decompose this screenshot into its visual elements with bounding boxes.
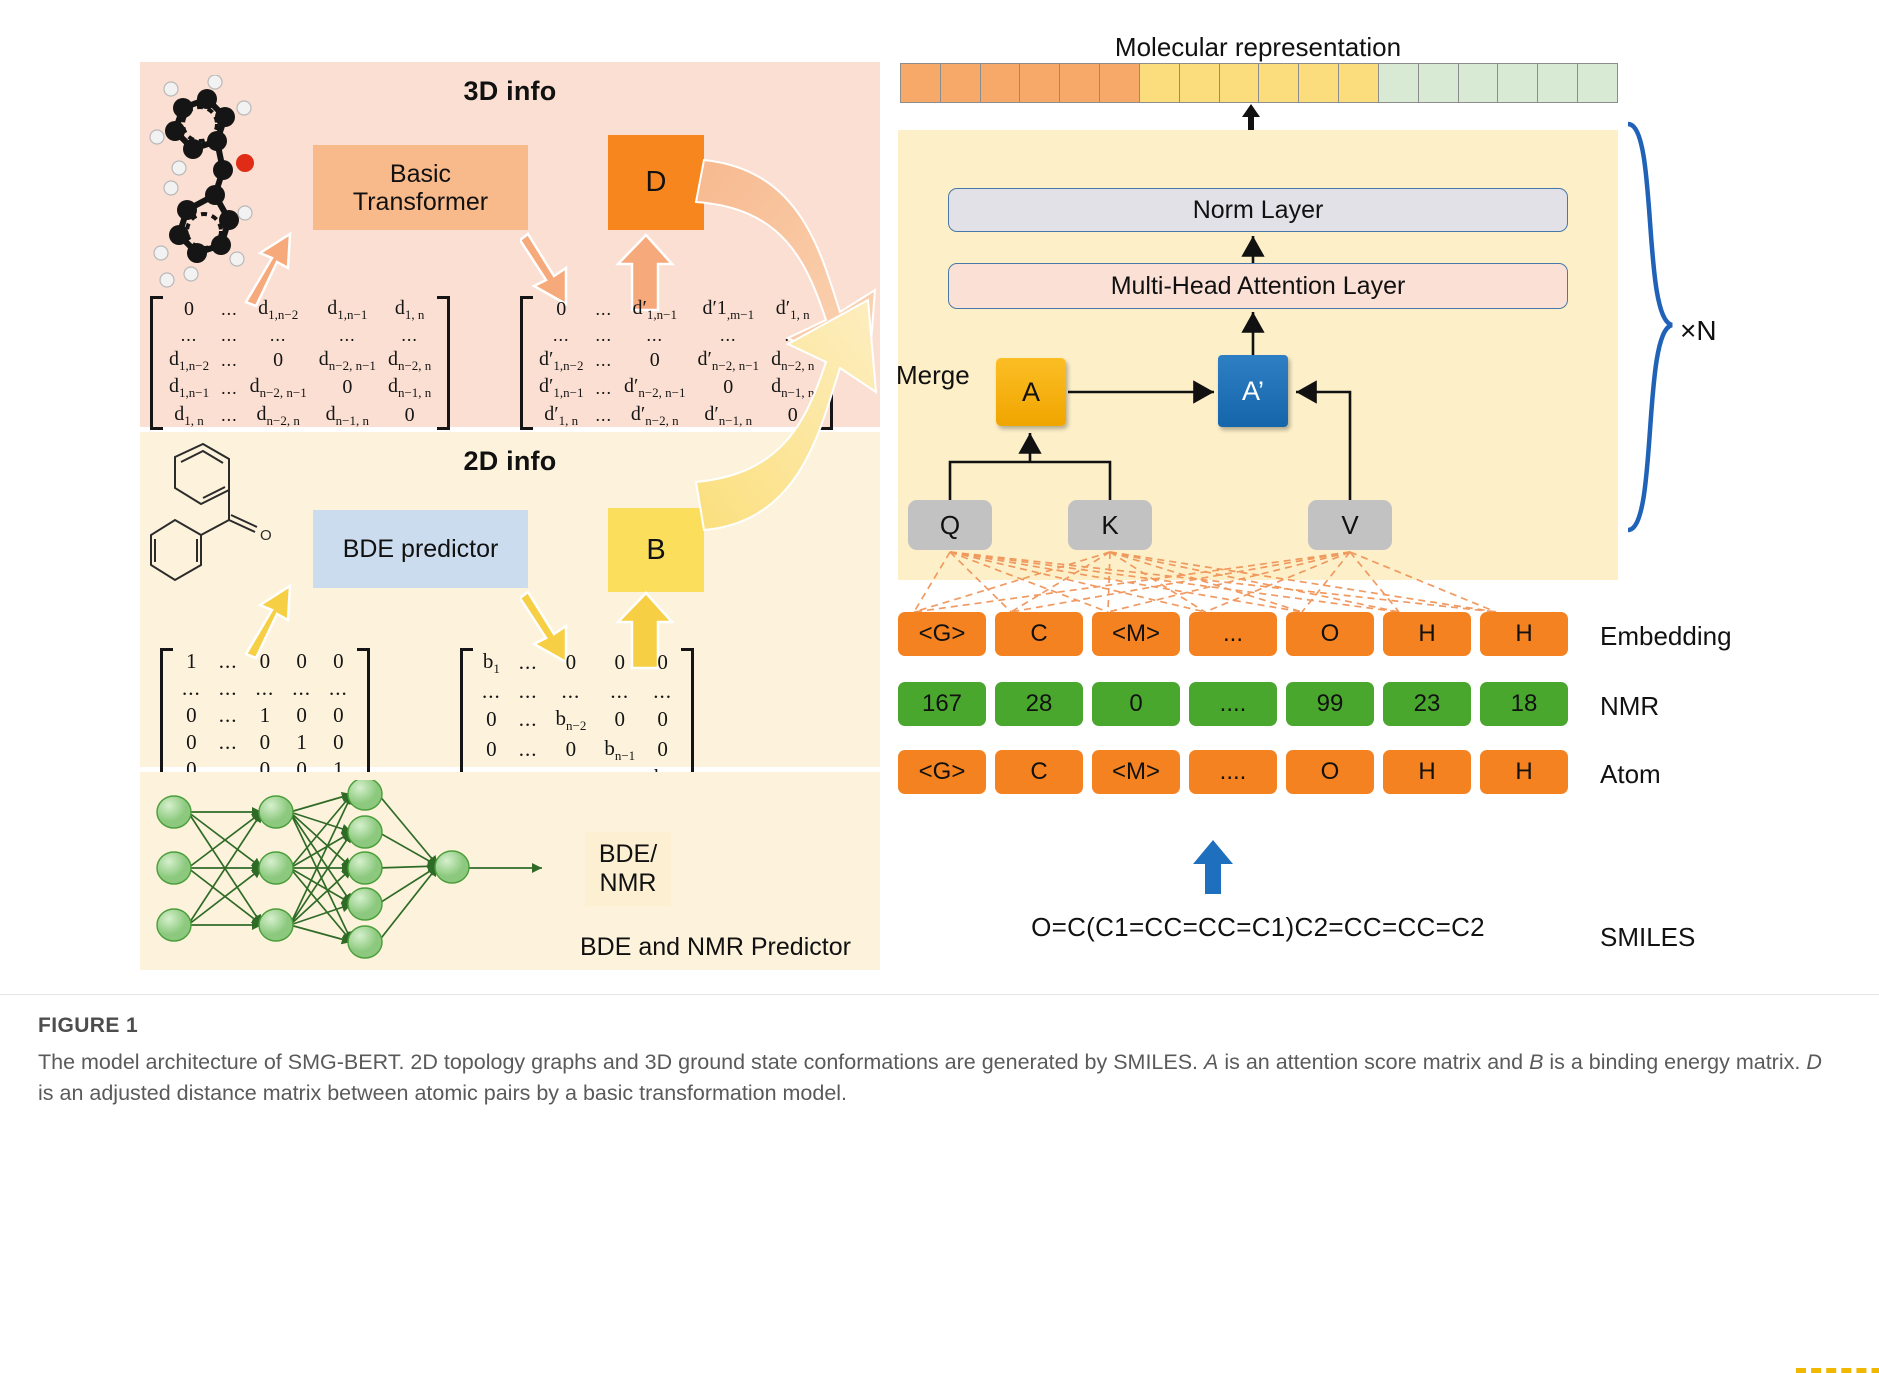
representation-cell-16 [1538, 64, 1578, 102]
representation-cell-6 [1140, 64, 1180, 102]
atom-token-2: <M> [1092, 750, 1180, 794]
svg-text:O: O [260, 527, 272, 544]
basic-transformer-line2: Transformer [353, 188, 488, 216]
bde-nmr-output-box: BDE/ NMR [585, 832, 671, 906]
atom-token-5: H [1383, 750, 1471, 794]
smiles-string: O=C(C1=CC=CC=C1)C2=CC=CC=C2 [898, 912, 1618, 943]
arrow-up-smiles-icon [1190, 838, 1236, 896]
figure-caption-block: FIGURE 1 The model architecture of SMG-B… [38, 1014, 1838, 1108]
yellow-dashed-divider [898, 683, 1618, 689]
representation-cell-17 [1578, 64, 1617, 102]
embedding-token-3: ... [1189, 612, 1277, 656]
value-box-v: V [1308, 500, 1392, 550]
atom-token-6: H [1480, 750, 1568, 794]
atom-token-4: O [1286, 750, 1374, 794]
repeat-n-label: ×N [1680, 315, 1717, 347]
predictor-caption: BDE and NMR Predictor [580, 930, 900, 964]
matrix-d: 0...d1,n−2d1,n−1d1, n ............... d1… [150, 296, 450, 430]
embedding-token-5: H [1383, 612, 1471, 656]
representation-cell-12 [1379, 64, 1419, 102]
representation-cell-8 [1220, 64, 1260, 102]
query-box-q: Q [908, 500, 992, 550]
atom-token-1: C [995, 750, 1083, 794]
representation-cell-13 [1419, 64, 1459, 102]
bde-predictor-box: BDE predictor [313, 510, 528, 588]
caption-seg-4: is an adjusted distance matrix between a… [38, 1081, 847, 1105]
bde-nmr-line1: BDE/ [599, 840, 657, 868]
figure-number: FIGURE 1 [38, 1014, 1838, 1038]
figure-canvas: 3D info [0, 0, 1879, 1000]
matrix-bracket-right [357, 648, 370, 782]
norm-layer-box: Norm Layer [948, 188, 1568, 232]
representation-cell-1 [941, 64, 981, 102]
matrix-bracket-right [437, 296, 450, 430]
matrix-bracket-left [150, 296, 163, 430]
representation-cell-11 [1339, 64, 1379, 102]
representation-cell-3 [1020, 64, 1060, 102]
atom-token-0: <G> [898, 750, 986, 794]
figure-caption-text: The model architecture of SMG-BERT. 2D t… [38, 1047, 1838, 1108]
basic-transformer-box: Basic Transformer [313, 145, 528, 230]
representation-cell-14 [1459, 64, 1499, 102]
caption-var-a: A [1204, 1050, 1218, 1074]
merge-label: Merge [896, 360, 970, 391]
caption-divider-rule [0, 994, 1879, 995]
matrix-d-table: 0...d1,n−2d1,n−1d1, n ............... d1… [163, 296, 437, 430]
embedding-token-4: O [1286, 612, 1374, 656]
molecule-2d-skeletal-icon: O [145, 432, 275, 592]
embedding-token-row: <G>C<M>...OHH [898, 612, 1568, 656]
embedding-token-1: C [995, 612, 1083, 656]
matrix-bracket-left [160, 648, 173, 782]
atom-row-label: Atom [1600, 759, 1661, 790]
bde-nmr-line2: NMR [600, 869, 657, 897]
caption-seg-3: is a binding energy matrix. [1543, 1050, 1806, 1074]
molecular-representation-bar [900, 63, 1618, 103]
embedding-token-0: <G> [898, 612, 986, 656]
attention-score-box-a: A [996, 358, 1066, 426]
embedding-token-6: H [1480, 612, 1568, 656]
representation-cell-9 [1259, 64, 1299, 102]
caption-var-b: B [1529, 1050, 1543, 1074]
key-box-k: K [1068, 500, 1152, 550]
representation-cell-4 [1060, 64, 1100, 102]
representation-cell-5 [1100, 64, 1140, 102]
atom-token-row: <G>C<M>....OHH [898, 750, 1568, 794]
representation-cell-15 [1498, 64, 1538, 102]
caption-var-d: D [1806, 1050, 1822, 1074]
neural-network-diagram [150, 780, 580, 960]
representation-cell-7 [1180, 64, 1220, 102]
representation-cell-2 [981, 64, 1021, 102]
embedding-row-label: Embedding [1600, 621, 1732, 652]
matrix-identity: 1...000 ............... 0...100 0...010 … [160, 648, 370, 782]
attention-score-box-a-prime: A’ [1218, 355, 1288, 427]
basic-transformer-line1: Basic [390, 160, 451, 188]
matrix-identity-table: 1...000 ............... 0...100 0...010 … [173, 648, 357, 782]
caption-seg-1: The model architecture of SMG-BERT. 2D t… [38, 1050, 1204, 1074]
attention-flow-connectors [898, 230, 1618, 630]
matrix-bracket-left [520, 296, 533, 430]
representation-cell-0 [901, 64, 941, 102]
molecular-representation-title: Molecular representation [898, 32, 1618, 63]
atom-token-3: .... [1189, 750, 1277, 794]
representation-cell-10 [1299, 64, 1339, 102]
caption-seg-2: is an attention score matrix and [1218, 1050, 1529, 1074]
nmr-row-label: NMR [1600, 691, 1659, 722]
embedding-token-2: <M> [1092, 612, 1180, 656]
